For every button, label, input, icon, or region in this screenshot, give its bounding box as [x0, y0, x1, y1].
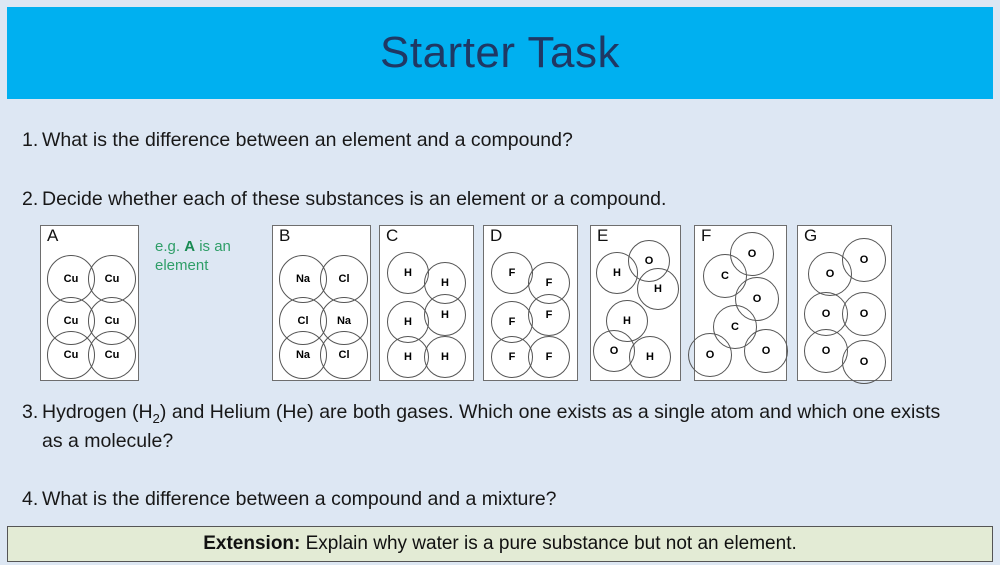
atom-circle: O — [842, 292, 886, 336]
question-2-text: Decide whether each of these substances … — [42, 186, 900, 212]
extension-body: Explain why water is a pure substance bu… — [300, 533, 796, 554]
atom-circle: F — [491, 252, 533, 294]
atom-circle: F — [491, 336, 533, 378]
atom-circle: Cl — [320, 255, 368, 303]
box-d-label: D — [490, 227, 502, 246]
extension-bar: Extension: Explain why water is a pure s… — [7, 526, 993, 562]
diagram-box-g: G O O O O O O — [797, 225, 892, 381]
diagram-box-c: C H H H H H H — [379, 225, 474, 381]
question-2-number: 2. — [0, 186, 42, 212]
atom-circle: O — [688, 333, 732, 377]
box-e-label: E — [597, 227, 608, 246]
box-b-label: B — [279, 227, 290, 246]
atom-circle: O — [744, 329, 788, 373]
page-title: Starter Task — [380, 31, 620, 75]
atom-circle: O — [808, 252, 852, 296]
box-f-label: F — [701, 227, 711, 246]
atom-circle: H — [637, 268, 679, 310]
question-4: 4. What is the difference between a comp… — [0, 486, 900, 512]
atom-circle: H — [424, 336, 466, 378]
atom-circle: H — [387, 336, 429, 378]
atom-circle: Cl — [320, 331, 368, 379]
extension-text: Extension: Explain why water is a pure s… — [203, 533, 797, 555]
atom-circle: H — [387, 252, 429, 294]
diagram-box-a: A Cu Cu Cu Cu Cu Cu — [40, 225, 139, 381]
annotation-bold-letter: A — [184, 238, 195, 255]
atom-circle: F — [528, 336, 570, 378]
box-g-label: G — [804, 227, 817, 246]
atom-circle: F — [528, 294, 570, 336]
atom-circle: O — [804, 329, 848, 373]
diagram-box-e: E H O H H O H — [590, 225, 681, 381]
box-c-label: C — [386, 227, 398, 246]
question-4-text: What is the difference between a compoun… — [42, 486, 900, 512]
hydrogen-subscript: 2 — [153, 411, 160, 426]
atom-circle: O — [842, 340, 886, 384]
title-banner: Starter Task — [7, 7, 993, 99]
question-1: 1. What is the difference between an ele… — [0, 127, 900, 153]
annotation-prefix: e.g. — [155, 238, 184, 255]
example-annotation: e.g. A is an element — [155, 237, 255, 275]
question-3-text-after: ) and Helium (He) are both gases. Which … — [42, 401, 940, 452]
question-3-text-before: Hydrogen (H — [42, 401, 153, 423]
atom-circle: Cu — [88, 255, 136, 303]
atom-circle: H — [424, 294, 466, 336]
question-1-number: 1. — [0, 127, 42, 153]
extension-label: Extension: — [203, 533, 300, 554]
question-1-text: What is the difference between an elemen… — [42, 127, 900, 153]
atom-circle: Cu — [88, 331, 136, 379]
question-3-text: Hydrogen (H2) and Helium (He) are both g… — [42, 399, 950, 454]
question-4-number: 4. — [0, 486, 42, 512]
question-3-number: 3. — [0, 399, 42, 454]
diagram-box-b: B Na Cl Cl Na Na Cl — [272, 225, 371, 381]
question-2: 2. Decide whether each of these substanc… — [0, 186, 900, 212]
diagram-box-f: F O C O C O O — [694, 225, 787, 381]
diagram-box-d: D F F F F F F — [483, 225, 578, 381]
question-3: 3. Hydrogen (H2) and Helium (He) are bot… — [0, 399, 950, 454]
atom-circle: H — [629, 336, 671, 378]
box-a-label: A — [47, 227, 58, 246]
